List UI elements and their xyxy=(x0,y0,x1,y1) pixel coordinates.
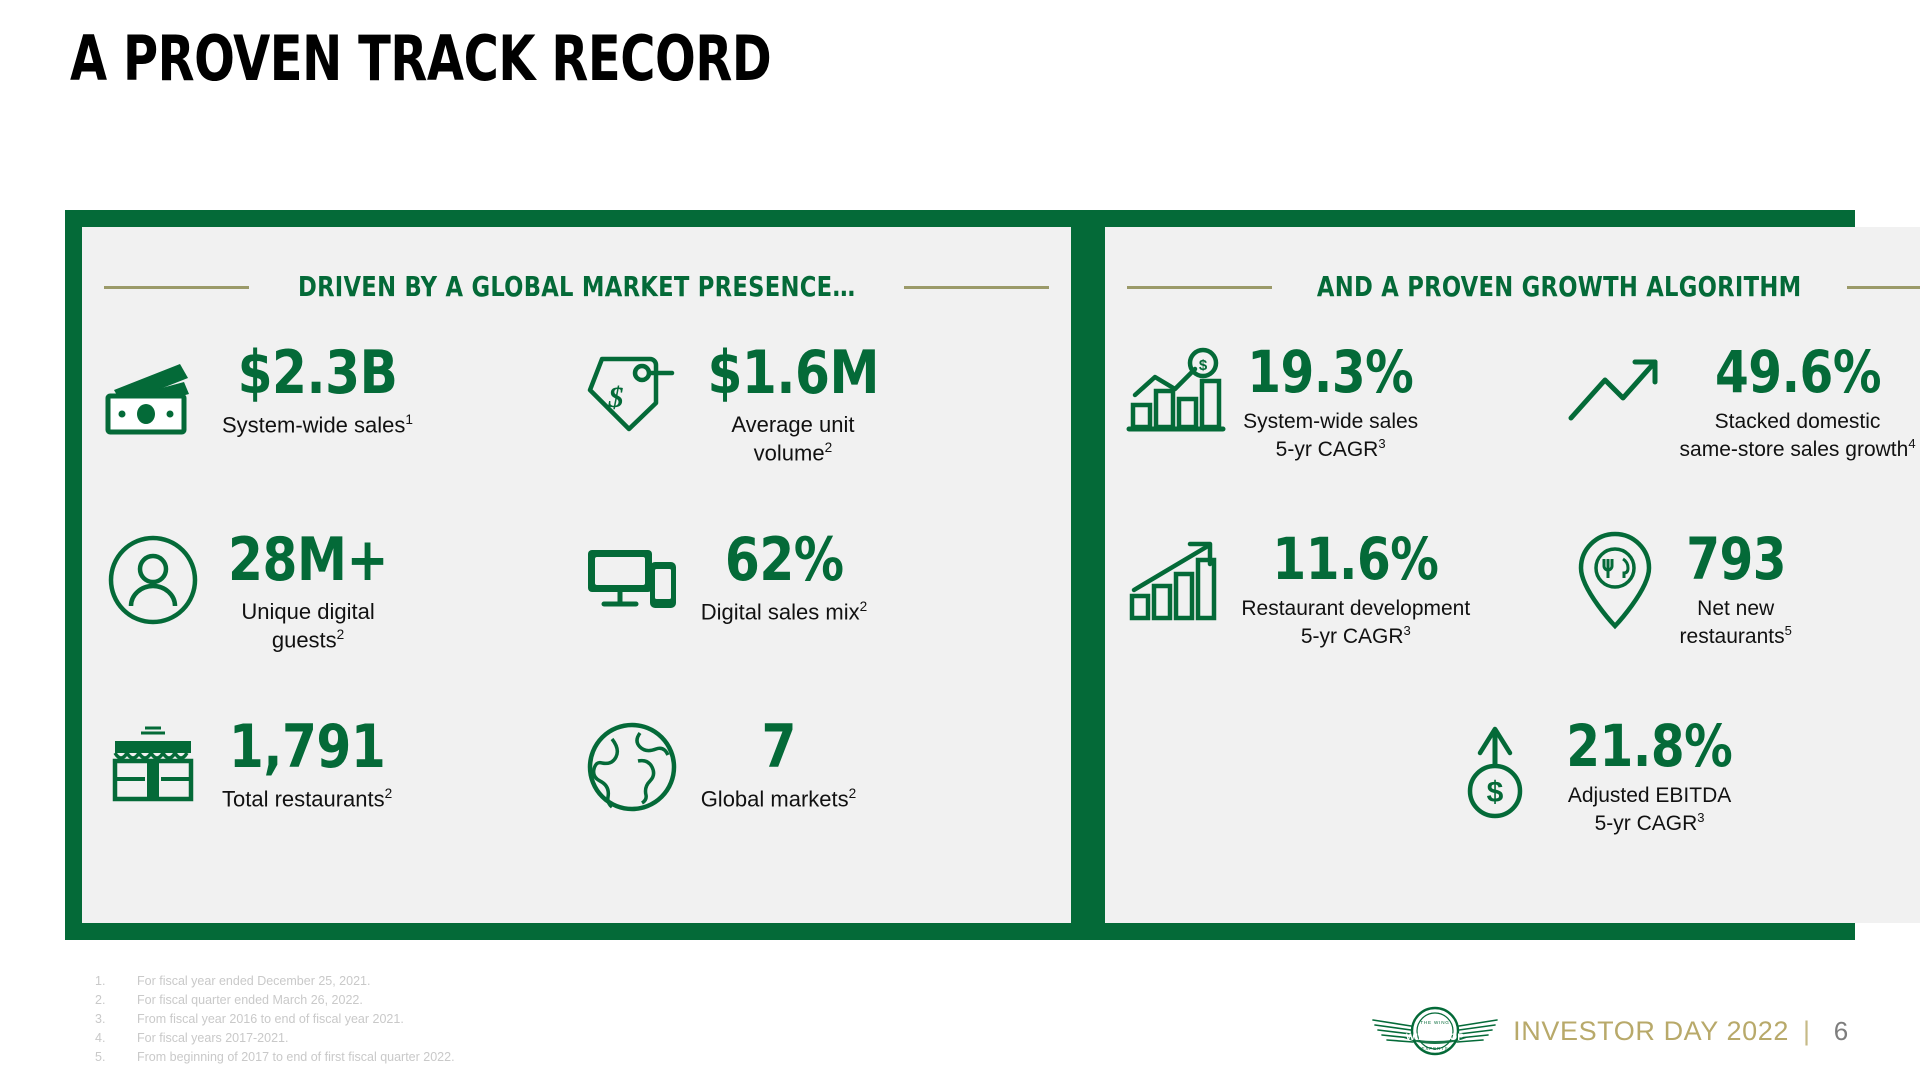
stat-label: System-wide sales 5-yr CAGR3 xyxy=(1241,409,1420,464)
svg-text:WING·STOP: WING·STOP xyxy=(1406,1032,1465,1043)
stat-value: 19.3% xyxy=(1248,343,1414,402)
footnote-number: 4. xyxy=(95,1029,137,1048)
left-stat-grid: $2.3B System-wide sales1 $ $1.6M Averag xyxy=(82,329,1071,884)
stat-value: 793 xyxy=(1683,530,1787,589)
footnote-number: 5. xyxy=(95,1048,137,1067)
right-panel-title: AND A PROVEN GROWTH ALGORITHM xyxy=(1317,270,1802,304)
stat-value: 62% xyxy=(707,530,862,591)
stat-value: 21.8% xyxy=(1567,717,1733,776)
footnote-text: From fiscal year 2016 to end of fiscal y… xyxy=(137,1010,404,1029)
stat-item: 793 Net new restaurants5 xyxy=(1560,522,1920,697)
footnote-item: 3. From fiscal year 2016 to end of fisca… xyxy=(95,1010,455,1029)
footnote-text: From beginning of 2017 to end of first f… xyxy=(137,1048,455,1067)
rule-right xyxy=(1847,286,1920,289)
stat-value: 11.6% xyxy=(1249,530,1462,589)
trend-arrow-icon xyxy=(1560,341,1670,445)
footnote-item: 4. For fiscal years 2017-2021. xyxy=(95,1029,455,1048)
stat-value: 1,791 xyxy=(228,717,386,778)
footnote-number: 1. xyxy=(95,972,137,991)
right-panel: AND A PROVEN GROWTH ALGORITHM $ xyxy=(1105,227,1920,923)
stat-item: $2.3B System-wide sales1 xyxy=(98,335,577,510)
footnote-item: 1. For fiscal year ended December 25, 20… xyxy=(95,972,455,991)
svg-text:$: $ xyxy=(1199,357,1208,374)
storefront-icon xyxy=(98,715,208,819)
stat-label: Average unit volume2 xyxy=(701,411,885,468)
right-stat-grid: $ 19.3% System-wide sales 5-yr CAGR3 xyxy=(1105,329,1920,884)
stat-label: Restaurant development 5-yr CAGR3 xyxy=(1241,596,1470,651)
slide-footer: WING·STOP THE WING EXPERTS INVESTOR DAY … xyxy=(1371,1000,1858,1062)
svg-text:EXPERTS: EXPERTS xyxy=(1422,1046,1449,1051)
stats-frame: DRIVEN BY A GLOBAL MARKET PRESENCE… xyxy=(65,210,1855,940)
footnote-item: 2. For fiscal quarter ended March 26, 20… xyxy=(95,991,455,1010)
stat-item: 7 Global markets2 xyxy=(577,709,1056,884)
stat-value: 7 xyxy=(706,717,851,778)
footnote-number: 2. xyxy=(95,991,137,1010)
cash-bills-icon xyxy=(98,341,208,445)
stat-label: Global markets2 xyxy=(701,785,857,813)
stat-label: Adjusted EBITDA 5-yr CAGR3 xyxy=(1560,783,1739,838)
stat-item: 11.6% Restaurant development 5-yr CAGR3 xyxy=(1121,522,1559,697)
left-panel: DRIVEN BY A GLOBAL MARKET PRESENCE… xyxy=(82,227,1071,923)
stat-item: 62% Digital sales mix2 xyxy=(577,522,1056,697)
stat-label: Digital sales mix2 xyxy=(701,598,868,626)
stat-item: $ 19.3% System-wide sales 5-yr CAGR3 xyxy=(1121,335,1559,510)
footnote-number: 3. xyxy=(95,1010,137,1029)
stat-item: 49.6% Stacked domestic same-store sales … xyxy=(1560,335,1920,510)
stat-label: Stacked domestic same-store sales growth… xyxy=(1680,409,1916,464)
stat-label: Total restaurants2 xyxy=(222,785,392,813)
user-circle-icon xyxy=(98,528,208,632)
stat-label: System-wide sales1 xyxy=(222,411,413,439)
dollar-up-arrow-icon: $ xyxy=(1440,715,1550,819)
wingstop-logo: WING·STOP THE WING EXPERTS xyxy=(1371,1000,1499,1062)
footnote-text: For fiscal quarter ended March 26, 2022. xyxy=(137,991,363,1010)
stat-label: Net new restaurants5 xyxy=(1680,596,1792,651)
globe-icon xyxy=(577,715,687,819)
stat-item: $ 21.8% Adjusted EBITDA 5-yr CAGR3 xyxy=(1121,709,1920,884)
left-panel-title: DRIVEN BY A GLOBAL MARKET PRESENCE… xyxy=(298,270,855,304)
footer-brand-label: INVESTOR DAY 2022 xyxy=(1513,1016,1789,1047)
footnotes-list: 1. For fiscal year ended December 25, 20… xyxy=(95,972,455,1067)
stat-value: 49.6% xyxy=(1688,343,1907,402)
footnote-item: 5. From beginning of 2017 to end of firs… xyxy=(95,1048,455,1067)
footnote-text: For fiscal year ended December 25, 2021. xyxy=(137,972,370,991)
left-panel-header: DRIVEN BY A GLOBAL MARKET PRESENCE… xyxy=(82,245,1071,329)
footnote-text: For fiscal years 2017-2021. xyxy=(137,1029,288,1048)
stat-label: Unique digital guests2 xyxy=(222,598,394,655)
stat-item: 1,791 Total restaurants2 xyxy=(98,709,577,884)
bar-chart-arrow-icon xyxy=(1121,528,1231,632)
map-pin-utensils-icon xyxy=(1560,528,1670,632)
page-title: A PROVEN TRACK RECORD xyxy=(70,22,771,95)
price-tag-icon: $ xyxy=(577,341,687,445)
rule-right xyxy=(904,286,1049,289)
rule-left xyxy=(104,286,249,289)
svg-text:$: $ xyxy=(607,381,623,414)
stat-item: 28M+ Unique digital guests2 xyxy=(98,522,577,697)
stat-value: $2.3B xyxy=(229,343,407,404)
footer-separator: | xyxy=(1803,1016,1810,1047)
bar-chart-dollar-icon: $ xyxy=(1121,341,1231,445)
right-panel-header: AND A PROVEN GROWTH ALGORITHM xyxy=(1105,245,1920,329)
stat-value: 28M+ xyxy=(228,530,388,591)
page-number: 6 xyxy=(1824,1016,1858,1047)
svg-text:$: $ xyxy=(1487,776,1504,809)
svg-text:THE WING: THE WING xyxy=(1420,1020,1449,1025)
devices-icon xyxy=(577,528,687,632)
stat-item: $ $1.6M Average unit volume2 xyxy=(577,335,1056,510)
stat-value: $1.6M xyxy=(707,343,879,404)
rule-left xyxy=(1127,286,1272,289)
